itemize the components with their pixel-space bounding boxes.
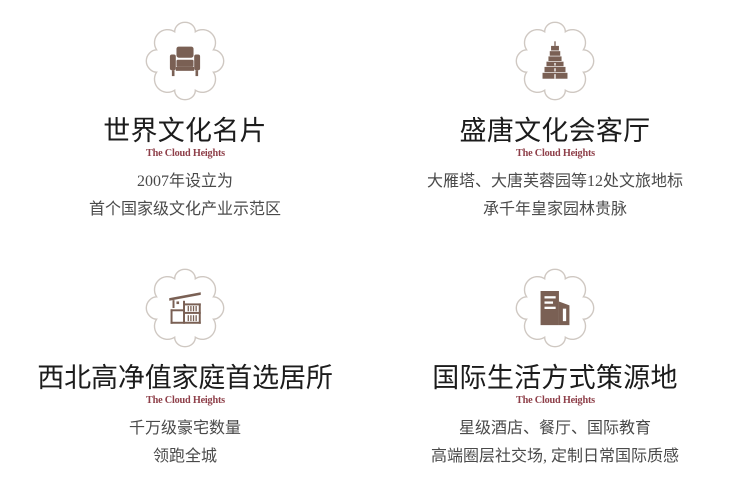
- feature-title: 西北高净值家庭首选居所: [37, 363, 333, 393]
- feature-card-1: 世界文化名片 The Cloud Heights 2007年设立为 首个国家级文…: [0, 0, 370, 247]
- armchair-glyph-icon: [164, 40, 206, 82]
- feature-card-4: 国际生活方式策源地 The Cloud Heights 星级酒店、餐厅、国际教育…: [370, 247, 740, 494]
- feature-line: 大雁塔、大唐芙蓉园等12处文旅地标: [427, 173, 683, 192]
- armchair-icon: [142, 18, 228, 104]
- feature-lines: 千万级豪宅数量 领跑全城: [129, 420, 241, 467]
- skyscraper-icon: [512, 265, 598, 351]
- feature-line: 高端圈层社交场, 定制日常国际质感: [431, 448, 679, 467]
- pagoda-glyph-icon: [534, 40, 576, 82]
- brand-latin-name: The Cloud Heights: [146, 394, 225, 407]
- feature-grid: 世界文化名片 The Cloud Heights 2007年设立为 首个国家级文…: [0, 0, 740, 494]
- villa-glyph-icon: [164, 287, 206, 329]
- feature-title: 盛唐文化会客厅: [460, 116, 651, 146]
- feature-lines: 大雁塔、大唐芙蓉园等12处文旅地标 承千年皇家园林贵脉: [427, 173, 683, 220]
- brand-latin-name: The Cloud Heights: [516, 147, 595, 160]
- feature-line: 千万级豪宅数量: [129, 420, 241, 439]
- brand-latin-name: The Cloud Heights: [146, 147, 225, 160]
- feature-line: 星级酒店、餐厅、国际教育: [459, 420, 651, 439]
- feature-title: 世界文化名片: [103, 116, 267, 146]
- skyscraper-glyph-icon: [534, 287, 576, 329]
- villa-icon: [142, 265, 228, 351]
- feature-card-3: 西北高净值家庭首选居所 The Cloud Heights 千万级豪宅数量 领跑…: [0, 247, 370, 494]
- pagoda-icon: [512, 18, 598, 104]
- feature-line: 承千年皇家园林贵脉: [483, 201, 627, 220]
- feature-lines: 2007年设立为 首个国家级文化产业示范区: [89, 173, 281, 220]
- feature-line: 领跑全城: [153, 448, 217, 467]
- brand-latin-name: The Cloud Heights: [516, 394, 595, 407]
- feature-title: 国际生活方式策源地: [432, 363, 677, 393]
- feature-line: 2007年设立为: [137, 173, 233, 192]
- feature-lines: 星级酒店、餐厅、国际教育 高端圈层社交场, 定制日常国际质感: [431, 420, 679, 467]
- feature-line: 首个国家级文化产业示范区: [89, 201, 281, 220]
- feature-card-2: 盛唐文化会客厅 The Cloud Heights 大雁塔、大唐芙蓉园等12处文…: [370, 0, 740, 247]
